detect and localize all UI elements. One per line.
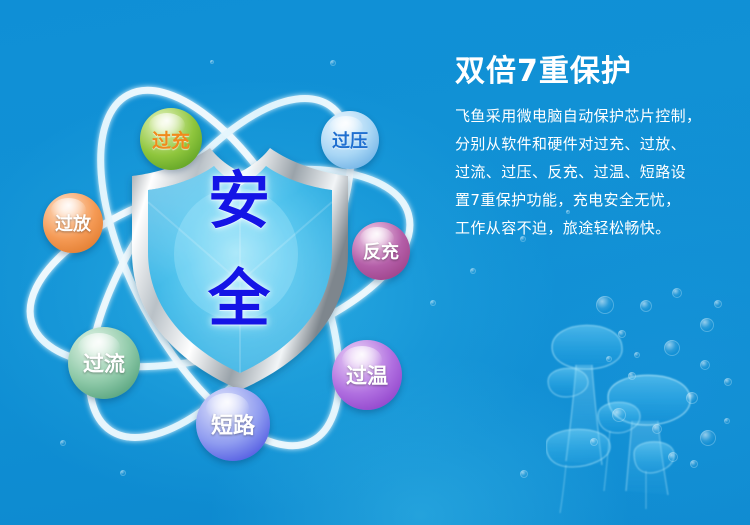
orb-label: 过压 xyxy=(332,127,368,153)
water-bubble xyxy=(470,268,476,274)
water-bubble xyxy=(628,372,636,380)
orb-overtemperature[interactable]: 过温 xyxy=(332,340,402,410)
water-bubble xyxy=(652,424,662,434)
orb-overcurrent[interactable]: 过流 xyxy=(68,327,140,399)
water-bubble xyxy=(714,300,722,308)
water-bubble xyxy=(664,340,680,356)
orb-reverse-charge[interactable]: 反充 xyxy=(352,222,410,280)
water-bubble xyxy=(612,408,626,422)
body-copy-line: 工作从容不迫，旅途轻松畅快。 xyxy=(455,214,737,242)
water-bubble xyxy=(606,356,612,362)
water-bubble xyxy=(724,418,730,424)
water-bubble xyxy=(430,300,436,306)
orb-overcharge[interactable]: 过充 xyxy=(140,108,202,170)
page-title: 双倍7重保护 xyxy=(455,54,737,90)
water-bubble xyxy=(700,430,716,446)
water-bubble xyxy=(330,60,336,66)
water-bubble xyxy=(672,288,682,298)
body-copy: 飞鱼采用微电脑自动保护芯片控制，分别从软件和硬件对过充、过放、过流、过压、反充、… xyxy=(455,102,737,242)
orb-overvoltage[interactable]: 过压 xyxy=(321,111,379,169)
water-bubble xyxy=(640,300,652,312)
water-bubble xyxy=(668,452,678,462)
glowing-mushroom-cluster-icon xyxy=(546,299,750,525)
orb-label: 短路 xyxy=(211,408,255,440)
body-copy-line: 过流、过压、反充、过温、短路设 xyxy=(455,158,737,186)
water-bubble xyxy=(690,460,698,468)
water-bubble xyxy=(686,392,698,404)
shield-char-line-1: 安 xyxy=(124,170,356,232)
water-bubble xyxy=(60,440,66,446)
shield-char-line-2: 全 xyxy=(124,268,356,330)
body-copy-line: 飞鱼采用微电脑自动保护芯片控制， xyxy=(455,102,737,130)
water-bubble xyxy=(210,60,214,64)
body-copy-line: 分别从软件和硬件对过充、过放、 xyxy=(455,130,737,158)
water-bubble xyxy=(618,330,626,338)
orb-short-circuit[interactable]: 短路 xyxy=(196,387,270,461)
water-bubble xyxy=(596,296,614,314)
promo-banner: 安 全 过充过压过放反充过流过温短路 双倍7重保护 飞鱼采用微电脑自动保护芯片控… xyxy=(0,0,750,525)
orb-label: 反充 xyxy=(363,238,399,264)
orb-label: 过流 xyxy=(83,348,125,378)
safety-shield: 安 全 xyxy=(124,142,356,394)
water-bubble xyxy=(520,470,528,478)
orb-label: 过放 xyxy=(55,210,91,236)
orb-overdischarge[interactable]: 过放 xyxy=(43,193,103,253)
water-bubble xyxy=(700,360,710,370)
water-bubble xyxy=(700,318,714,332)
water-bubble xyxy=(120,470,126,476)
water-bubble xyxy=(590,438,598,446)
orb-label: 过充 xyxy=(152,126,190,153)
body-copy-line: 置7重保护功能，充电安全无忧， xyxy=(455,186,737,214)
water-bubble xyxy=(634,352,640,358)
water-bubble xyxy=(724,378,732,386)
orb-label: 过温 xyxy=(346,360,388,390)
copy-block: 双倍7重保护 飞鱼采用微电脑自动保护芯片控制，分别从软件和硬件对过充、过放、过流… xyxy=(455,54,737,242)
